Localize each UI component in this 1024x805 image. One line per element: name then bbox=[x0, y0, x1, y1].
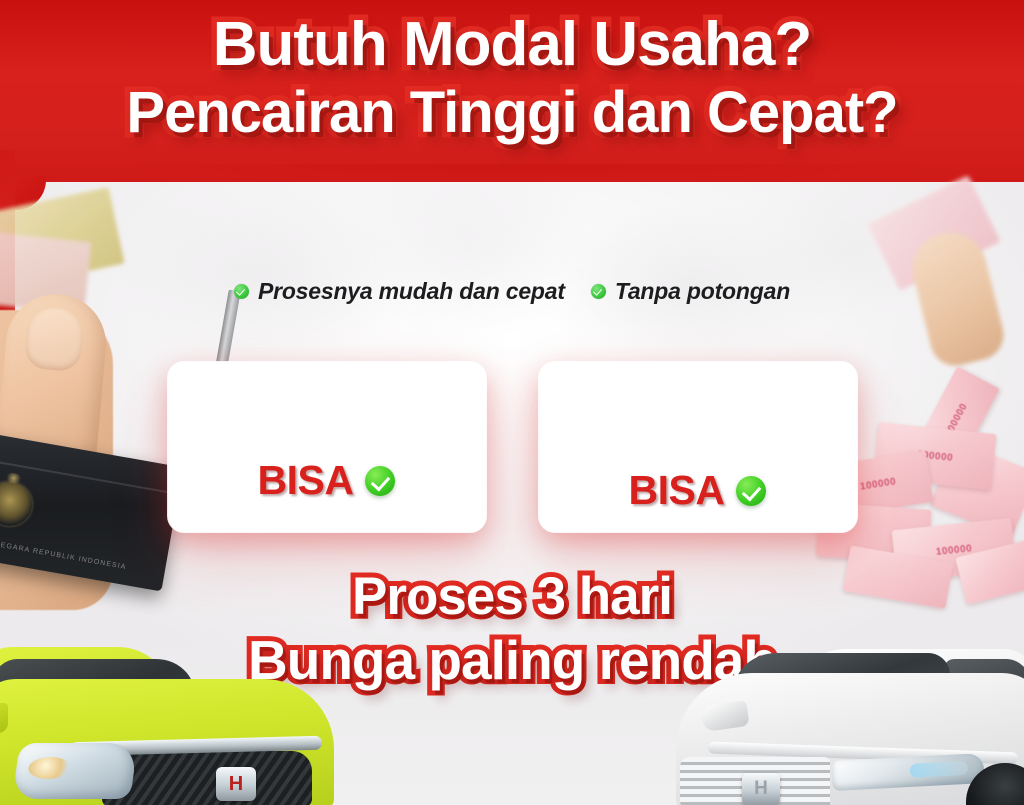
green-check-circle-icon bbox=[365, 466, 395, 496]
feature-label: Prosesnya mudah dan cepat bbox=[258, 278, 565, 305]
green-check-circle-icon bbox=[591, 284, 606, 299]
bisa-card-content: BISA bbox=[629, 467, 767, 514]
bisa-label: BISA bbox=[629, 467, 725, 514]
feature-list: Prosesnya mudah dan cepat Tanpa potongan bbox=[0, 278, 1024, 305]
green-check-circle-icon bbox=[736, 476, 766, 506]
car-headlight bbox=[12, 743, 138, 799]
headline-block: Butuh Modal Usaha? Pencairan Tinggi dan … bbox=[0, 14, 1024, 142]
feature-item: Tanpa potongan bbox=[591, 278, 790, 305]
bisa-label: BISA bbox=[258, 457, 354, 504]
bisa-card-right[interactable]: BISA bbox=[539, 362, 857, 532]
feature-label: Tanpa potongan bbox=[615, 278, 790, 305]
green-check-circle-icon bbox=[234, 284, 249, 299]
honda-logo-icon: H bbox=[742, 773, 780, 805]
bottom-headline-line-1: Proses 3 hari bbox=[0, 570, 1024, 623]
bisa-card-left[interactable]: BISA bbox=[168, 362, 486, 532]
car-right-white-honda-suv: H bbox=[668, 626, 1024, 805]
car-grille bbox=[102, 751, 312, 805]
car-left-lime-honda: H bbox=[0, 629, 344, 805]
bisa-card-content: BISA bbox=[258, 457, 396, 504]
feature-item: Prosesnya mudah dan cepat bbox=[234, 278, 565, 305]
headline-line-2: Pencairan Tinggi dan Cepat? bbox=[0, 84, 1024, 142]
honda-logo-icon: H bbox=[216, 767, 256, 801]
background-cash-top-right bbox=[878, 196, 1008, 346]
advertisement-canvas: Butuh Modal Usaha? Pencairan Tinggi dan … bbox=[0, 0, 1024, 805]
bisa-card-row: BISA BISA bbox=[0, 362, 1024, 532]
headline-line-1: Butuh Modal Usaha? bbox=[0, 14, 1024, 76]
bpkb-document-caption: KEPOLISIAN NEGARA REPUBLIK INDONESIA bbox=[0, 531, 127, 571]
